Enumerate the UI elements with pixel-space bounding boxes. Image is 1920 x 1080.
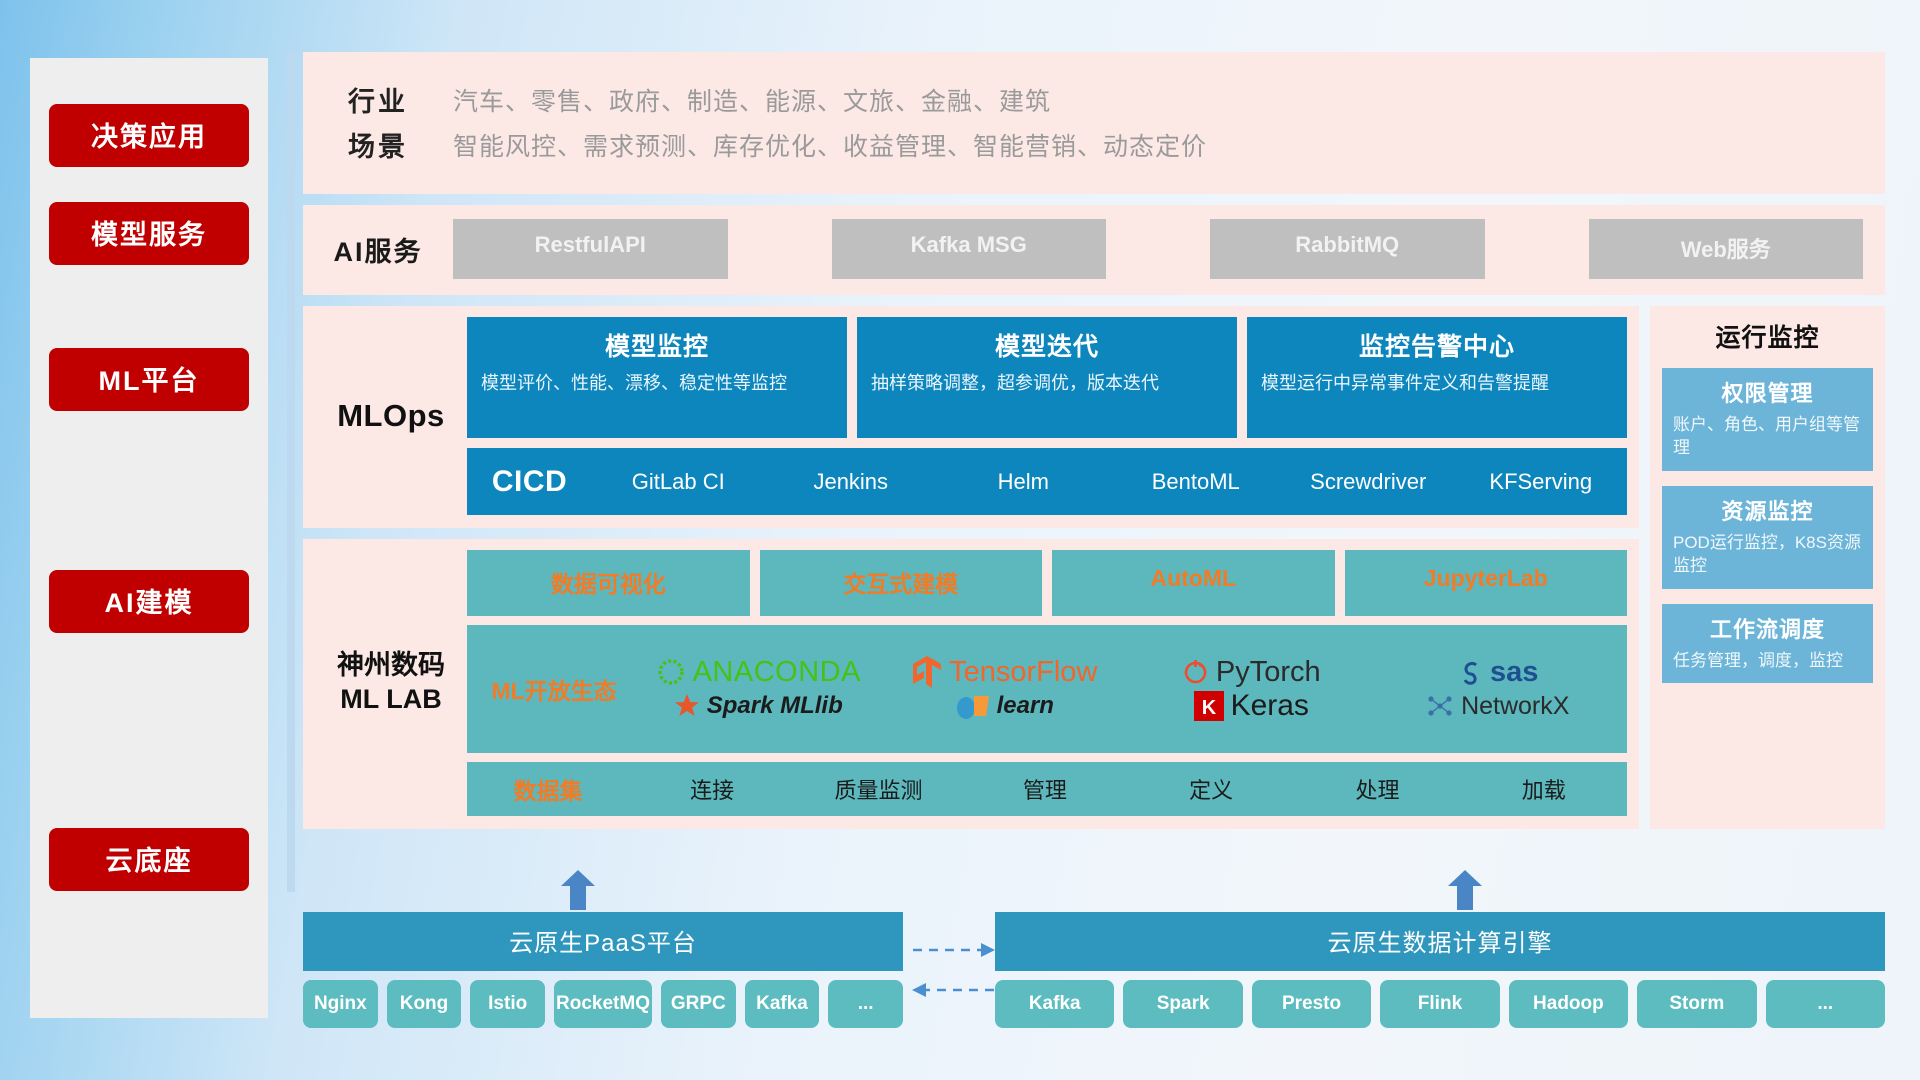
scikit-learn-logo-text: learn [997, 692, 1054, 720]
dataset-item-define[interactable]: 定义 [1128, 773, 1294, 805]
ai-service-label: AI服务 [303, 230, 453, 269]
keras-logo-text: Keras [1231, 689, 1309, 723]
cloud-chip-kong[interactable]: Kong [387, 980, 462, 1028]
ml-lab-label: 神州数码 ML LAB [315, 550, 467, 816]
dataset-item-connect[interactable]: 连接 [629, 773, 795, 805]
card-desc: POD运行监控，K8S资源监控 [1673, 531, 1862, 578]
engine-chip-presto[interactable]: Presto [1252, 980, 1371, 1028]
rail-item-model-service[interactable]: 模型服务 [49, 202, 249, 265]
left-spine [287, 52, 295, 892]
cicd-item-jenkins[interactable]: Jenkins [765, 469, 938, 494]
cicd-item-helm[interactable]: Helm [937, 469, 1110, 494]
cloud-paas-column: 云原生PaaS平台 Nginx Kong Istio RocketMQ GRPC… [303, 912, 903, 1028]
cloud-chip-nginx[interactable]: Nginx [303, 980, 378, 1028]
cicd-item-kfserving[interactable]: KFServing [1455, 469, 1628, 494]
ai-service-rabbitmq[interactable]: RabbitMQ [1210, 219, 1485, 279]
networkx-logo-text: NetworkX [1461, 692, 1569, 721]
rail-item-ml-platform[interactable]: ML平台 [49, 348, 249, 411]
mlops-card-model-iteration[interactable]: 模型迭代 抽样策略调整，超参调优，版本迭代 [857, 317, 1237, 438]
cloud-chip-kafka[interactable]: Kafka [745, 980, 820, 1028]
card-desc: 模型运行中异常事件定义和告警提醒 [1261, 371, 1613, 397]
monitoring-card-resource[interactable]: 资源监控 POD运行监控，K8S资源监控 [1662, 486, 1873, 589]
industry-value: 汽车、零售、政府、制造、能源、文旅、金融、建筑 [453, 82, 1051, 118]
up-arrow-icon-right [1448, 870, 1482, 910]
mlops-card-model-monitoring[interactable]: 模型监控 模型评价、性能、漂移、稳定性等监控 [467, 317, 847, 438]
sas-logo-text: sas [1490, 656, 1538, 689]
monitoring-rail: 运行监控 权限管理 账户、角色、用户组等管理 资源监控 POD运行监控，K8S资… [1650, 306, 1885, 829]
pytorch-flame-icon [1182, 657, 1209, 687]
business-row-scenario: 场景 智能风控、需求预测、库存优化、收益管理、智能营销、动态定价 [303, 125, 1885, 164]
card-title: 工作流调度 [1673, 612, 1862, 644]
engine-chip-spark[interactable]: Spark [1123, 980, 1242, 1028]
dataset-row: 数据集 连接 质量监测 管理 定义 处理 加载 [467, 762, 1627, 816]
cicd-item-bentoml[interactable]: BentoML [1110, 469, 1283, 494]
layer-rail: 决策应用 模型服务 ML平台 AI建模 云底座 [30, 58, 268, 1018]
ai-service-band: AI服务 RestfulAPI Kafka MSG RabbitMQ Web服务 [303, 205, 1885, 295]
ml-ecosystem-row: ML开放生态 ANACONDA [467, 625, 1627, 753]
cloud-data-engine-title: 云原生数据计算引擎 [995, 912, 1885, 971]
tensorflow-mark-icon [912, 655, 942, 689]
tensorflow-logo[interactable]: TensorFlow [912, 655, 1097, 689]
monitoring-title: 运行监控 [1662, 318, 1873, 354]
ml-lab-label-line1: 神州数码 [337, 649, 445, 683]
rail-item-ai-modeling[interactable]: AI建模 [49, 570, 249, 633]
pytorch-logo-text: PyTorch [1216, 656, 1321, 689]
cloud-chip-grpc[interactable]: GRPC [661, 980, 736, 1028]
scikit-blobs-icon [956, 692, 990, 720]
ai-service-web[interactable]: Web服务 [1589, 219, 1864, 279]
tensorflow-logo-text: TensorFlow [949, 656, 1097, 689]
mlops-band: MLOps 模型监控 模型评价、性能、漂移、稳定性等监控 模型迭代 抽样策略调整… [303, 306, 1639, 528]
engine-chip-kafka[interactable]: Kafka [995, 980, 1114, 1028]
bidirectional-link-arrows [911, 936, 996, 1002]
scenario-value: 智能风控、需求预测、库存优化、收益管理、智能营销、动态定价 [453, 127, 1207, 163]
spark-star-icon [674, 693, 700, 719]
cloud-chip-rocketmq[interactable]: RocketMQ [554, 980, 652, 1028]
ai-service-kafka-msg[interactable]: Kafka MSG [832, 219, 1107, 279]
card-desc: 模型评价、性能、漂移、稳定性等监控 [481, 371, 833, 397]
card-title: 资源监控 [1673, 494, 1862, 526]
rail-item-decision-app[interactable]: 决策应用 [49, 104, 249, 167]
cicd-item-gitlab-ci[interactable]: GitLab CI [592, 469, 765, 494]
cicd-label: CICD [467, 465, 592, 499]
up-arrow-icon-left [561, 870, 595, 910]
networkx-graph-icon [1426, 693, 1454, 719]
card-title: 模型迭代 [871, 327, 1223, 363]
card-title: 权限管理 [1673, 376, 1862, 408]
lab-tool-automl[interactable]: AutoML [1052, 550, 1335, 616]
cloud-chip-more[interactable]: ... [828, 980, 903, 1028]
ai-service-restfulapi[interactable]: RestfulAPI [453, 219, 728, 279]
card-desc: 账户、角色、用户组等管理 [1673, 413, 1862, 460]
keras-logo[interactable]: K Keras [1194, 689, 1309, 723]
dataset-item-process[interactable]: 处理 [1294, 773, 1460, 805]
mlops-card-alert-center[interactable]: 监控告警中心 模型运行中异常事件定义和告警提醒 [1247, 317, 1627, 438]
networkx-logo[interactable]: NetworkX [1426, 692, 1569, 721]
scenario-label: 场景 [303, 125, 453, 164]
svg-text:K: K [1201, 697, 1216, 719]
anaconda-ring-icon [656, 657, 686, 687]
sas-logo[interactable]: sas [1457, 656, 1538, 689]
platform-section: MLOps 模型监控 模型评价、性能、漂移、稳定性等监控 模型迭代 抽样策略调整… [303, 306, 1885, 829]
ml-lab-band: 神州数码 ML LAB 数据可视化 交互式建模 AutoML JupyterLa… [303, 539, 1639, 829]
cicd-row: CICD GitLab CI Jenkins Helm BentoML Scre… [467, 448, 1627, 515]
dataset-item-manage[interactable]: 管理 [962, 773, 1128, 805]
scikit-learn-logo[interactable]: learn [956, 692, 1054, 720]
mlops-label: MLOps [315, 317, 467, 515]
dataset-item-load[interactable]: 加载 [1461, 773, 1627, 805]
ml-lab-label-line2: ML LAB [340, 683, 442, 717]
engine-chip-hadoop[interactable]: Hadoop [1509, 980, 1628, 1028]
card-desc: 任务管理，调度，监控 [1673, 649, 1862, 672]
monitoring-card-workflow[interactable]: 工作流调度 任务管理，调度，监控 [1662, 604, 1873, 683]
pytorch-logo[interactable]: PyTorch [1182, 656, 1321, 689]
sas-mark-icon [1457, 659, 1483, 685]
lab-tool-jupyterlab[interactable]: JupyterLab [1345, 550, 1628, 616]
business-row-industry: 行业 汽车、零售、政府、制造、能源、文旅、金融、建筑 [303, 80, 1885, 119]
dataset-label: 数据集 [467, 772, 629, 806]
cloud-base-section: 云原生PaaS平台 Nginx Kong Istio RocketMQ GRPC… [303, 880, 1885, 1030]
card-title: 模型监控 [481, 327, 833, 363]
card-title: 监控告警中心 [1261, 327, 1613, 363]
cloud-data-engine-column: 云原生数据计算引擎 Kafka Spark Presto Flink Hadoo… [995, 912, 1885, 1028]
cicd-item-screwdriver[interactable]: Screwdriver [1282, 469, 1455, 494]
cloud-chip-istio[interactable]: Istio [470, 980, 545, 1028]
anaconda-logo[interactable]: ANACONDA [656, 656, 861, 689]
architecture-main: 行业 汽车、零售、政府、制造、能源、文旅、金融、建筑 场景 智能风控、需求预测、… [303, 52, 1885, 840]
anaconda-logo-text: ANACONDA [693, 656, 861, 689]
lab-tool-data-visualization[interactable]: 数据可视化 [467, 550, 750, 616]
keras-mark-icon: K [1194, 691, 1224, 721]
engine-chip-more[interactable]: ... [1766, 980, 1885, 1028]
dataset-item-quality-monitor[interactable]: 质量监测 [795, 773, 961, 805]
ml-ecosystem-label: ML开放生态 [473, 672, 635, 706]
monitoring-card-permission[interactable]: 权限管理 账户、角色、用户组等管理 [1662, 368, 1873, 471]
business-band: 行业 汽车、零售、政府、制造、能源、文旅、金融、建筑 场景 智能风控、需求预测、… [303, 52, 1885, 194]
spark-mllib-logo[interactable]: Spark MLlib [674, 692, 843, 720]
industry-label: 行业 [303, 80, 453, 119]
card-desc: 抽样策略调整，超参调优，版本迭代 [871, 371, 1223, 397]
cloud-paas-title: 云原生PaaS平台 [303, 912, 903, 971]
rail-item-cloud-base[interactable]: 云底座 [49, 828, 249, 891]
engine-chip-flink[interactable]: Flink [1380, 980, 1499, 1028]
engine-chip-storm[interactable]: Storm [1637, 980, 1756, 1028]
lab-tool-interactive-modeling[interactable]: 交互式建模 [760, 550, 1043, 616]
spark-mllib-logo-text: Spark MLlib [707, 692, 843, 720]
